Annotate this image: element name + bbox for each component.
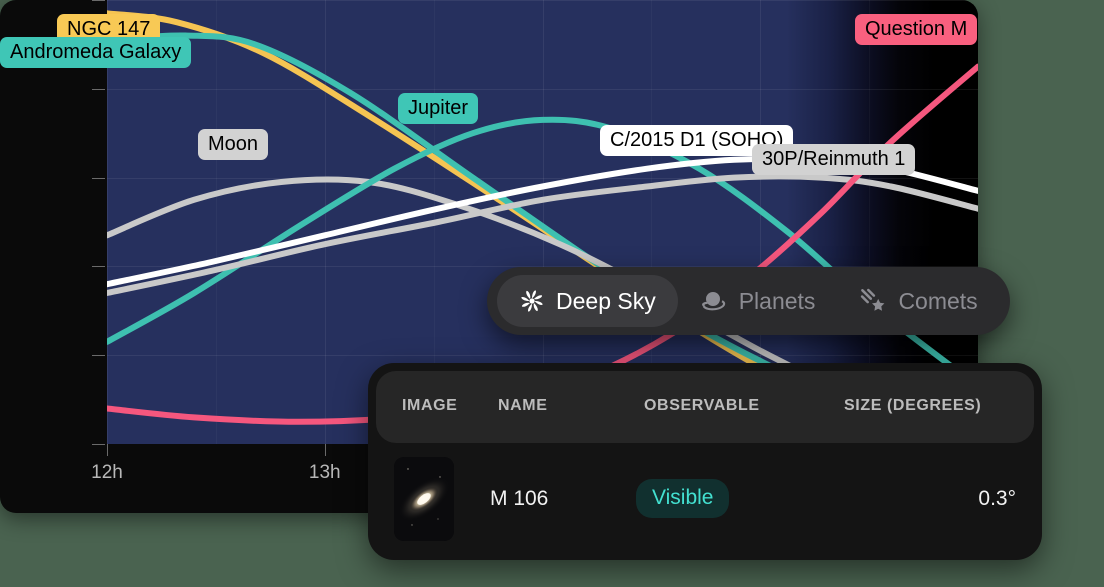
- comet-icon: [859, 288, 887, 314]
- objects-table-card: IMAGE NAME OBSERVABLE SIZE (DEGREES): [368, 363, 1042, 560]
- y-axis-tick-mark: [92, 89, 105, 90]
- tab-label: Deep Sky: [556, 288, 656, 315]
- y-axis-tick-mark: [92, 178, 105, 179]
- y-axis-tick-mark: [92, 266, 105, 267]
- series-label-pill: Moon: [198, 129, 268, 160]
- series-label-pill: 30P/Reinmuth 1: [752, 144, 915, 175]
- screenshot-root: 0°20°40°60°80°100° 12h13h14h15h16h NGC 1…: [0, 0, 1104, 587]
- column-header-size: SIZE (DEGREES): [844, 397, 981, 415]
- tab-label: Comets: [898, 288, 977, 315]
- galaxy-thumb-svg: [394, 457, 454, 541]
- tab-deep-sky[interactable]: Deep Sky: [497, 275, 678, 327]
- cell-name: M 106: [490, 487, 548, 511]
- y-axis-tick-mark: [92, 0, 105, 1]
- y-axis-tick-mark: [92, 355, 105, 356]
- column-header-image: IMAGE: [402, 397, 457, 415]
- table-header-row: IMAGE NAME OBSERVABLE SIZE (DEGREES): [376, 371, 1034, 443]
- tab-comets[interactable]: Comets: [837, 275, 999, 327]
- column-header-name: NAME: [498, 397, 548, 415]
- x-axis-tick-label: 13h: [309, 462, 341, 484]
- cell-size: 0.3°: [954, 487, 1016, 511]
- x-axis-tick-mark: [325, 444, 326, 456]
- galaxy-spiral-icon: [519, 288, 545, 314]
- table-row[interactable]: M 106 Visible 0.3°: [368, 451, 1042, 560]
- saturn-icon: [700, 288, 728, 314]
- series-label-pill: Andromeda Galaxy: [0, 37, 191, 68]
- x-axis-tick-label: 12h: [91, 462, 123, 484]
- y-axis-tick-mark: [92, 444, 105, 445]
- column-header-observable: OBSERVABLE: [644, 397, 760, 415]
- tab-label: Planets: [739, 288, 816, 315]
- category-tabbar: Deep SkyPlanetsComets: [487, 267, 1010, 335]
- series-label-pill: Jupiter: [398, 93, 478, 124]
- status-badge-observable: Visible: [636, 479, 729, 518]
- series-label-pill: Question M: [855, 14, 977, 45]
- galaxy-thumbnail-image: [394, 457, 454, 541]
- x-axis-tick-mark: [107, 444, 108, 456]
- tab-planets[interactable]: Planets: [678, 275, 838, 327]
